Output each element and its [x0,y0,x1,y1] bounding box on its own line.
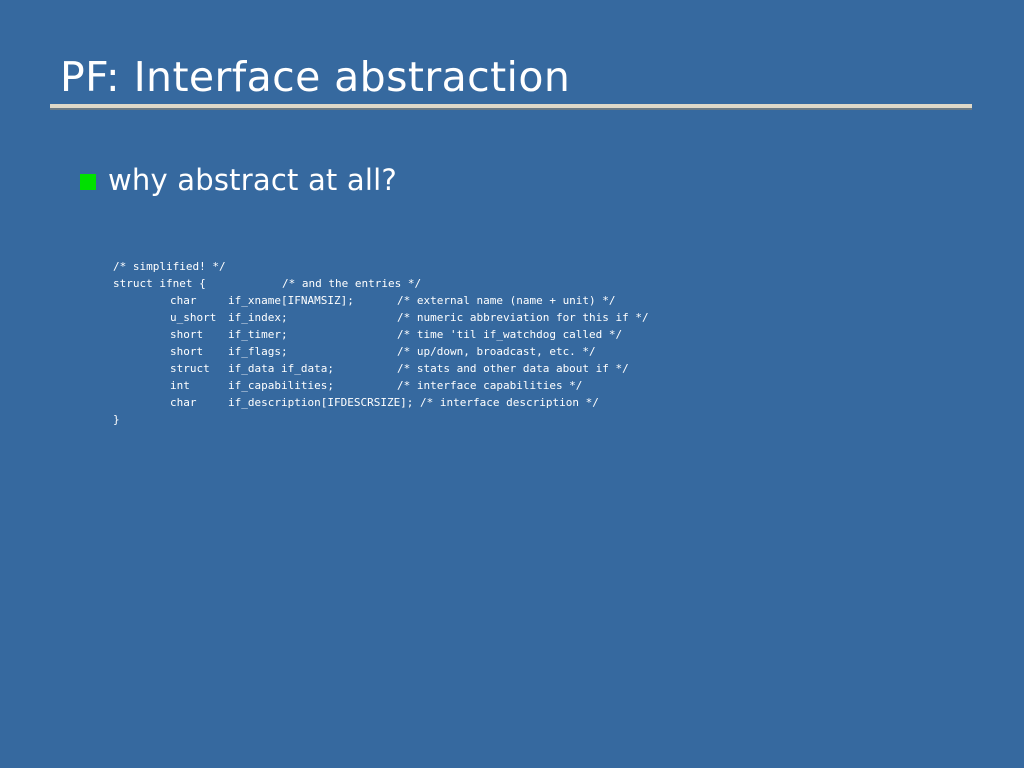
code-identifier: if_capabilities; [228,377,397,394]
title-rule-shadow [50,108,972,110]
code-line: } [113,411,649,428]
code-identifier: if_xname[IFNAMSIZ]; [228,292,397,309]
code-identifier: struct ifnet { [113,275,282,292]
code-identifier: } [113,411,282,428]
code-line: intif_capabilities;/* interface capabili… [113,377,649,394]
code-type-token: struct [170,360,228,377]
code-line: u_shortif_index;/* numeric abbreviation … [113,309,649,326]
code-line: /* simplified! */ [113,258,649,275]
code-identifier: if_flags; [228,343,397,360]
code-type-token: short [170,343,228,360]
code-comment: /* external name (name + unit) */ [397,294,616,307]
code-line: shortif_timer;/* time 'til if_watchdog c… [113,326,649,343]
code-identifier: if_timer; [228,326,397,343]
code-type-token: short [170,326,228,343]
code-comment: /* stats and other data about if */ [397,362,629,375]
code-type-token: char [170,394,228,411]
code-line: shortif_flags;/* up/down, broadcast, etc… [113,343,649,360]
code-type-token: u_short [170,309,228,326]
code-type-token: char [170,292,228,309]
square-bullet-icon [80,174,96,190]
code-comment: /* interface description */ [413,396,598,409]
title-underline-rule [50,104,972,110]
bullet-item: why abstract at all? [80,163,397,197]
code-comment: /* numeric abbreviation for this if */ [397,311,649,324]
code-line: charif_description[IFDESCRSIZE]; /* inte… [113,394,649,411]
code-identifier: if_description[IFDESCRSIZE]; [228,394,413,411]
code-line: struct ifnet {/* and the entries */ [113,275,649,292]
code-comment: /* up/down, broadcast, etc. */ [397,345,596,358]
code-identifier: if_data if_data; [228,360,397,377]
code-type-token: int [170,377,228,394]
page-title: PF: Interface abstraction [60,56,570,99]
code-line: structif_data if_data;/* stats and other… [113,360,649,377]
code-block: /* simplified! */struct ifnet {/* and th… [113,258,649,428]
code-identifier: if_index; [228,309,397,326]
code-identifier: /* simplified! */ [113,258,282,275]
slide-canvas: PF: Interface abstraction why abstract a… [0,0,1024,768]
code-comment: /* and the entries */ [282,277,421,290]
bullet-item-label: why abstract at all? [108,163,397,197]
code-line: charif_xname[IFNAMSIZ];/* external name … [113,292,649,309]
code-comment: /* time 'til if_watchdog called */ [397,328,622,341]
code-comment: /* interface capabilities */ [397,379,582,392]
